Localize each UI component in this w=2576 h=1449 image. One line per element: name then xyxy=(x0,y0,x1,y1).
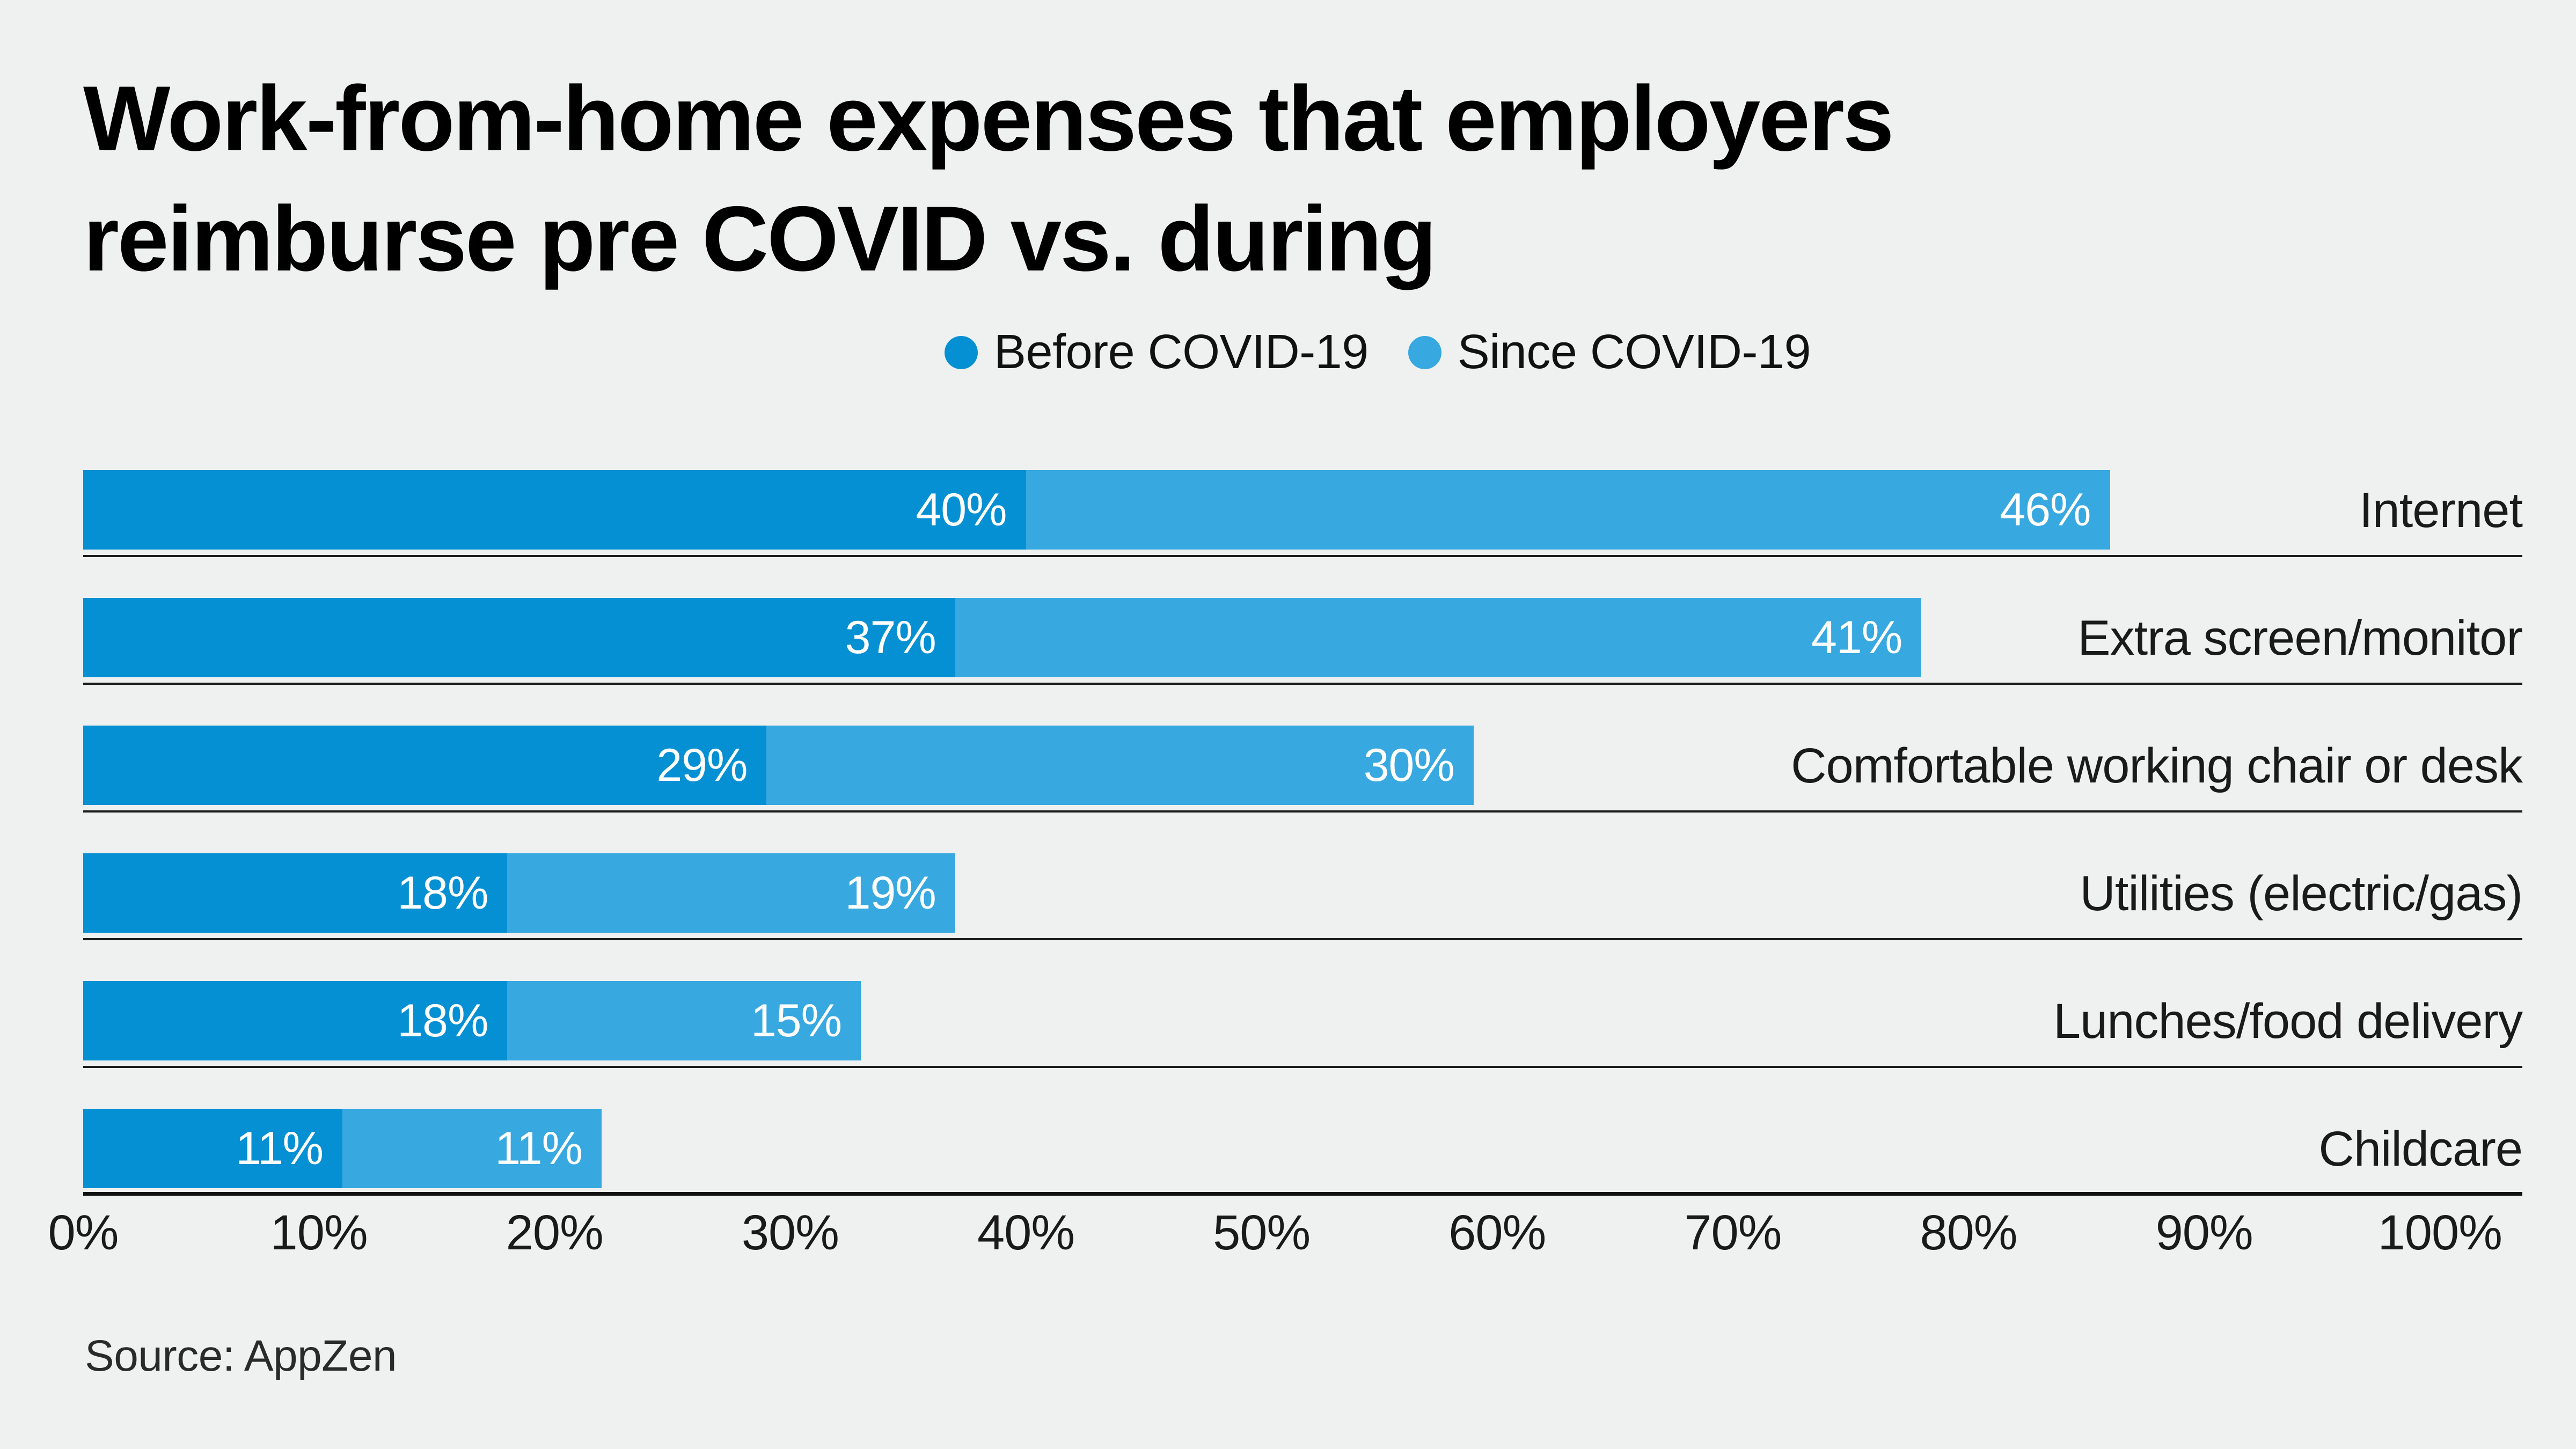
axis-tick-label: 70% xyxy=(1684,1205,1781,1261)
bar-segment: 18% xyxy=(83,853,507,933)
axis-tick-label: 80% xyxy=(1920,1205,2017,1261)
bar-segment: 11% xyxy=(342,1109,602,1188)
chart-row: 18%15%Lunches/food delivery xyxy=(83,940,2522,1068)
axis-tick-label: 10% xyxy=(270,1205,368,1261)
bar-segment: 41% xyxy=(955,598,1921,677)
bar-value-label: 30% xyxy=(1364,739,1474,792)
source-note: Source: AppZen xyxy=(85,1331,397,1381)
bar-value-label: 11% xyxy=(495,1122,602,1175)
chart-row: 18%19%Utilities (electric/gas) xyxy=(83,813,2522,940)
axis-tick-label: 30% xyxy=(742,1205,839,1261)
category-label: Internet xyxy=(2359,482,2522,539)
bar-value-label: 41% xyxy=(1811,611,1921,664)
axis-tick-label: 20% xyxy=(506,1205,603,1261)
stacked-bar: 40%46% xyxy=(83,470,2110,550)
chart-row: 29%30%Comfortable working chair or desk xyxy=(83,685,2522,813)
bar-value-label: 19% xyxy=(845,867,955,920)
chart-row: 37%41%Extra screen/monitor xyxy=(83,557,2522,685)
chart-row: 40%46%Internet xyxy=(83,429,2522,557)
axis-tick-label: 60% xyxy=(1448,1205,1546,1261)
title-line-2: reimburse pre COVID vs. during xyxy=(83,179,2337,299)
bar-value-label: 46% xyxy=(2000,484,2110,537)
bar-segment: 40% xyxy=(83,470,1026,550)
category-label: Lunches/food delivery xyxy=(2053,993,2522,1050)
axis-tick-label: 50% xyxy=(1213,1205,1310,1261)
legend-item-label: Since COVID-19 xyxy=(1458,325,1811,380)
stacked-bar: 18%19% xyxy=(83,853,955,933)
axis-tick-label: 40% xyxy=(977,1205,1074,1261)
stacked-bar: 18%15% xyxy=(83,981,861,1060)
bar-segment: 15% xyxy=(507,981,861,1060)
legend-item: Before COVID-19 xyxy=(945,325,1368,380)
bar-value-label: 37% xyxy=(845,611,955,664)
bar-value-label: 18% xyxy=(397,867,507,920)
bar-segment: 11% xyxy=(83,1109,342,1188)
chart-row: 11%11%Childcare xyxy=(83,1068,2522,1196)
stacked-bar: 29%30% xyxy=(83,726,1474,805)
bar-value-label: 40% xyxy=(916,484,1026,537)
page-title: Work-from-home expenses that employers r… xyxy=(83,59,2337,299)
x-axis-line xyxy=(83,1192,2522,1196)
category-label: Childcare xyxy=(2318,1121,2522,1177)
legend-item-label: Before COVID-19 xyxy=(994,325,1368,380)
stacked-bar: 37%41% xyxy=(83,598,1921,677)
legend-item: Since COVID-19 xyxy=(1408,325,1811,380)
bar-value-label: 18% xyxy=(397,994,507,1048)
category-label: Utilities (electric/gas) xyxy=(2080,866,2522,922)
stacked-bar: 11%11% xyxy=(83,1109,602,1188)
bar-value-label: 29% xyxy=(656,739,766,792)
bar-segment: 30% xyxy=(766,726,1473,805)
legend-dot-icon xyxy=(945,336,978,369)
bar-segment: 37% xyxy=(83,598,955,677)
bar-segment: 19% xyxy=(507,853,955,933)
axis-tick-label: 100% xyxy=(2378,1205,2502,1261)
bar-segment: 46% xyxy=(1026,470,2110,550)
axis-tick-label: 90% xyxy=(2156,1205,2253,1261)
category-label: Comfortable working chair or desk xyxy=(1791,738,2522,794)
axis-tick-label: 0% xyxy=(48,1205,119,1261)
chart-page: Work-from-home expenses that employers r… xyxy=(0,0,2576,1449)
bar-value-label: 11% xyxy=(236,1122,342,1175)
title-line-1: Work-from-home expenses that employers xyxy=(83,59,2337,179)
bar-segment: 18% xyxy=(83,981,507,1060)
category-label: Extra screen/monitor xyxy=(2077,610,2522,667)
legend-dot-icon xyxy=(1408,336,1441,369)
chart-plot-area: 40%46%Internet37%41%Extra screen/monitor… xyxy=(83,429,2522,1197)
x-axis-tick-labels: 0%10%20%30%40%50%60%70%80%90%100% xyxy=(83,1205,2522,1269)
bar-value-label: 15% xyxy=(751,994,861,1048)
chart-legend: Before COVID-19Since COVID-19 xyxy=(945,325,1811,380)
bar-segment: 29% xyxy=(83,726,766,805)
